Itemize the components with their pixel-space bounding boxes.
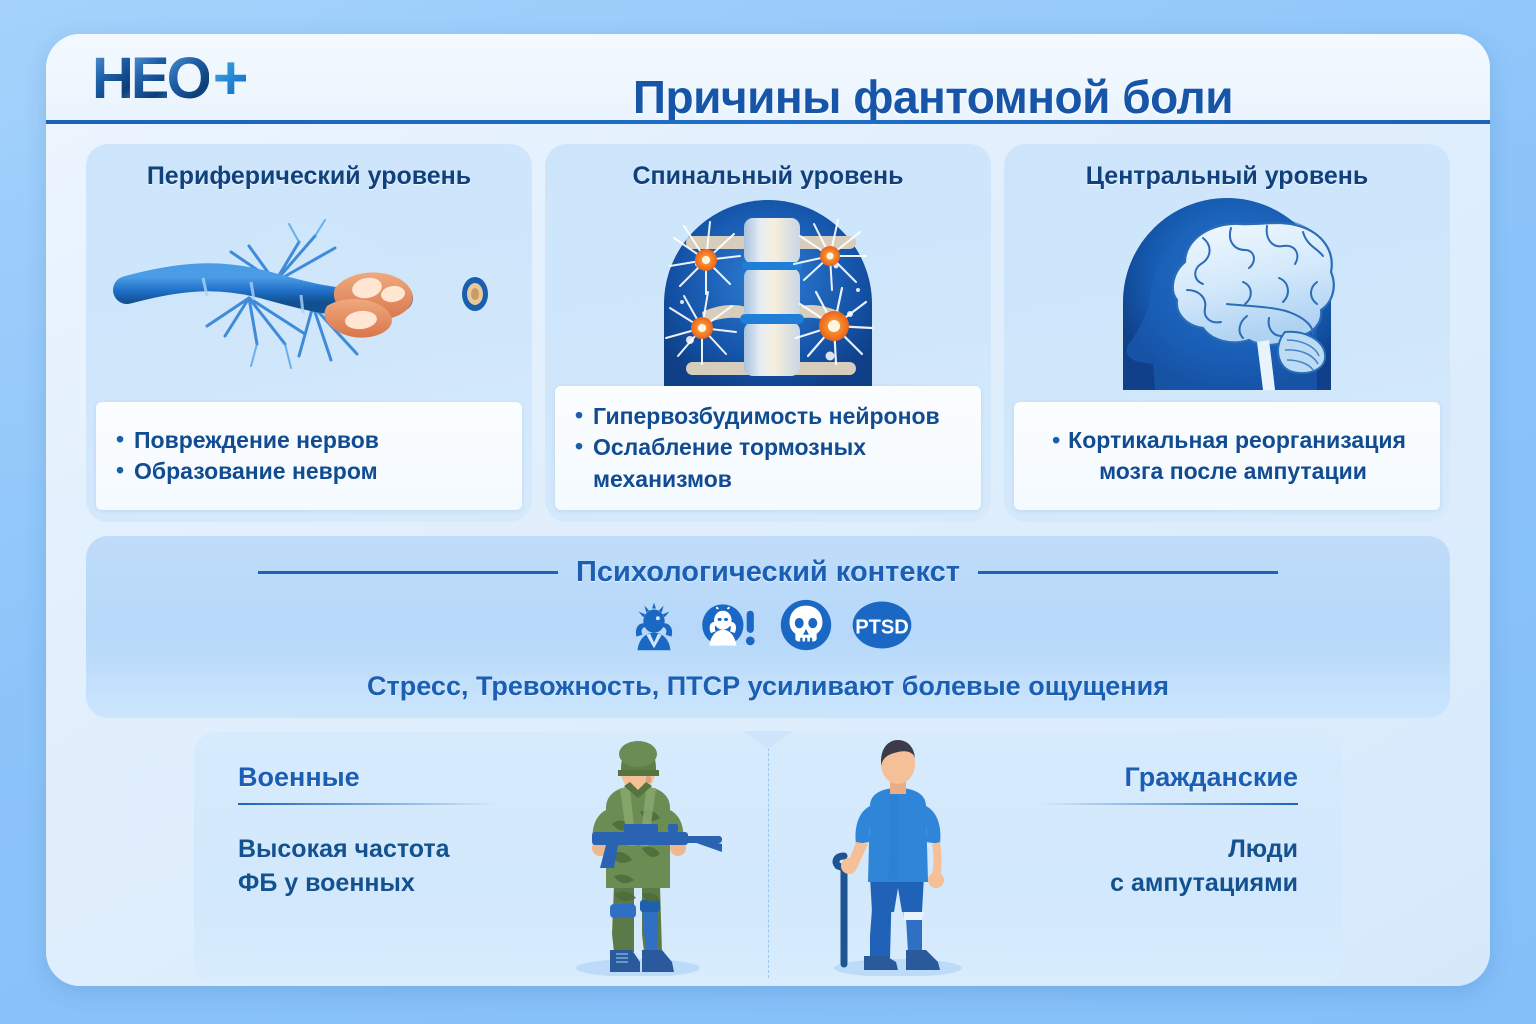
ptsd-label: PTSD (855, 616, 909, 638)
soldier-with-prosthesis-icon (528, 736, 748, 976)
level-title: Спинальный уровень (632, 162, 903, 191)
header-divider (46, 120, 1490, 124)
logo-letter-o: О (167, 50, 209, 108)
spine-neurons-icon (545, 194, 991, 402)
groups-row: Военные Высокая частота ФБ у военных (194, 732, 1342, 984)
psychological-heading-row: Психологический контекст (86, 556, 1450, 589)
fact-item-continuation: механизмов (573, 465, 967, 494)
group-description-line: Люди (1038, 833, 1298, 867)
level-title: Центральный уровень (1086, 162, 1369, 191)
heading-rule-right (978, 571, 1278, 574)
fact-item: Кортикальная реорганизация (1032, 426, 1426, 455)
levels-row: Периферический уровень (86, 144, 1450, 522)
brain-head-icon (1004, 194, 1450, 402)
level-card-peripheral[interactable]: Периферический уровень (86, 144, 532, 522)
group-card-civilian[interactable]: Гражданские Люди с ампутациями (768, 732, 1342, 984)
group-title: Гражданские (1038, 762, 1298, 793)
group-description-line: ФБ у военных (238, 867, 498, 901)
psychological-context-section: Психологический контекст (86, 536, 1450, 718)
fact-item-continuation: мозга после ампутации (1032, 457, 1426, 486)
fact-item: Повреждение нервов (114, 426, 508, 455)
groups-notch (742, 731, 794, 749)
damaged-nerve-icon (86, 194, 532, 402)
page-title: Причины фантомной боли (416, 70, 1450, 124)
brand-logo: Н Е О + (92, 48, 246, 110)
level-title: Периферический уровень (147, 162, 471, 191)
anxiety-person-icon (699, 594, 761, 656)
psychological-caption: Стресс, Тревожность, ПТСР усиливают боле… (86, 671, 1450, 702)
group-title: Военные (238, 762, 498, 793)
stress-person-icon (623, 594, 685, 656)
group-title-rule (238, 803, 498, 805)
civilian-with-prosthesis-icon (786, 736, 1006, 976)
facts-box: Кортикальная реорганизация мозга после а… (1014, 402, 1440, 510)
group-description-line: с ампутациями (1038, 867, 1298, 901)
skull-icon (775, 594, 837, 656)
logo-letter-e: Е (131, 50, 167, 108)
facts-box: Повреждение нервов Образование невром (96, 402, 522, 510)
group-card-military[interactable]: Военные Высокая частота ФБ у военных (194, 732, 768, 984)
group-text-block: Гражданские Люди с ампутациями (1038, 762, 1298, 901)
infographic-panel: Н Е О + Причины фантомной боли Периферич… (46, 34, 1490, 986)
logo-letter-n: Н (92, 50, 131, 108)
group-description: Люди с ампутациями (1038, 833, 1298, 901)
level-card-spinal[interactable]: Спинальный уровень (545, 144, 991, 522)
fact-item: Ослабление тормозных (573, 433, 967, 462)
fact-item: Образование невром (114, 457, 508, 486)
ptsd-badge-icon: PTSD (851, 594, 913, 656)
logo-plus-icon: + (213, 48, 246, 110)
groups-divider (768, 738, 769, 978)
group-title-rule (1038, 803, 1298, 805)
level-card-central[interactable]: Центральный уровень (1004, 144, 1450, 522)
heading-rule-left (258, 571, 558, 574)
facts-box: Гипервозбудимость нейронов Ослабление то… (555, 386, 981, 510)
psychological-icons-row: PTSD (86, 594, 1450, 656)
header-bar: Н Е О + Причины фантомной боли (46, 34, 1490, 122)
fact-item: Гипервозбудимость нейронов (573, 402, 967, 431)
group-description-line: Высокая частота (238, 833, 498, 867)
group-text-block: Военные Высокая частота ФБ у военных (238, 762, 498, 901)
psychological-heading: Психологический контекст (576, 556, 960, 589)
group-description: Высокая частота ФБ у военных (238, 833, 498, 901)
